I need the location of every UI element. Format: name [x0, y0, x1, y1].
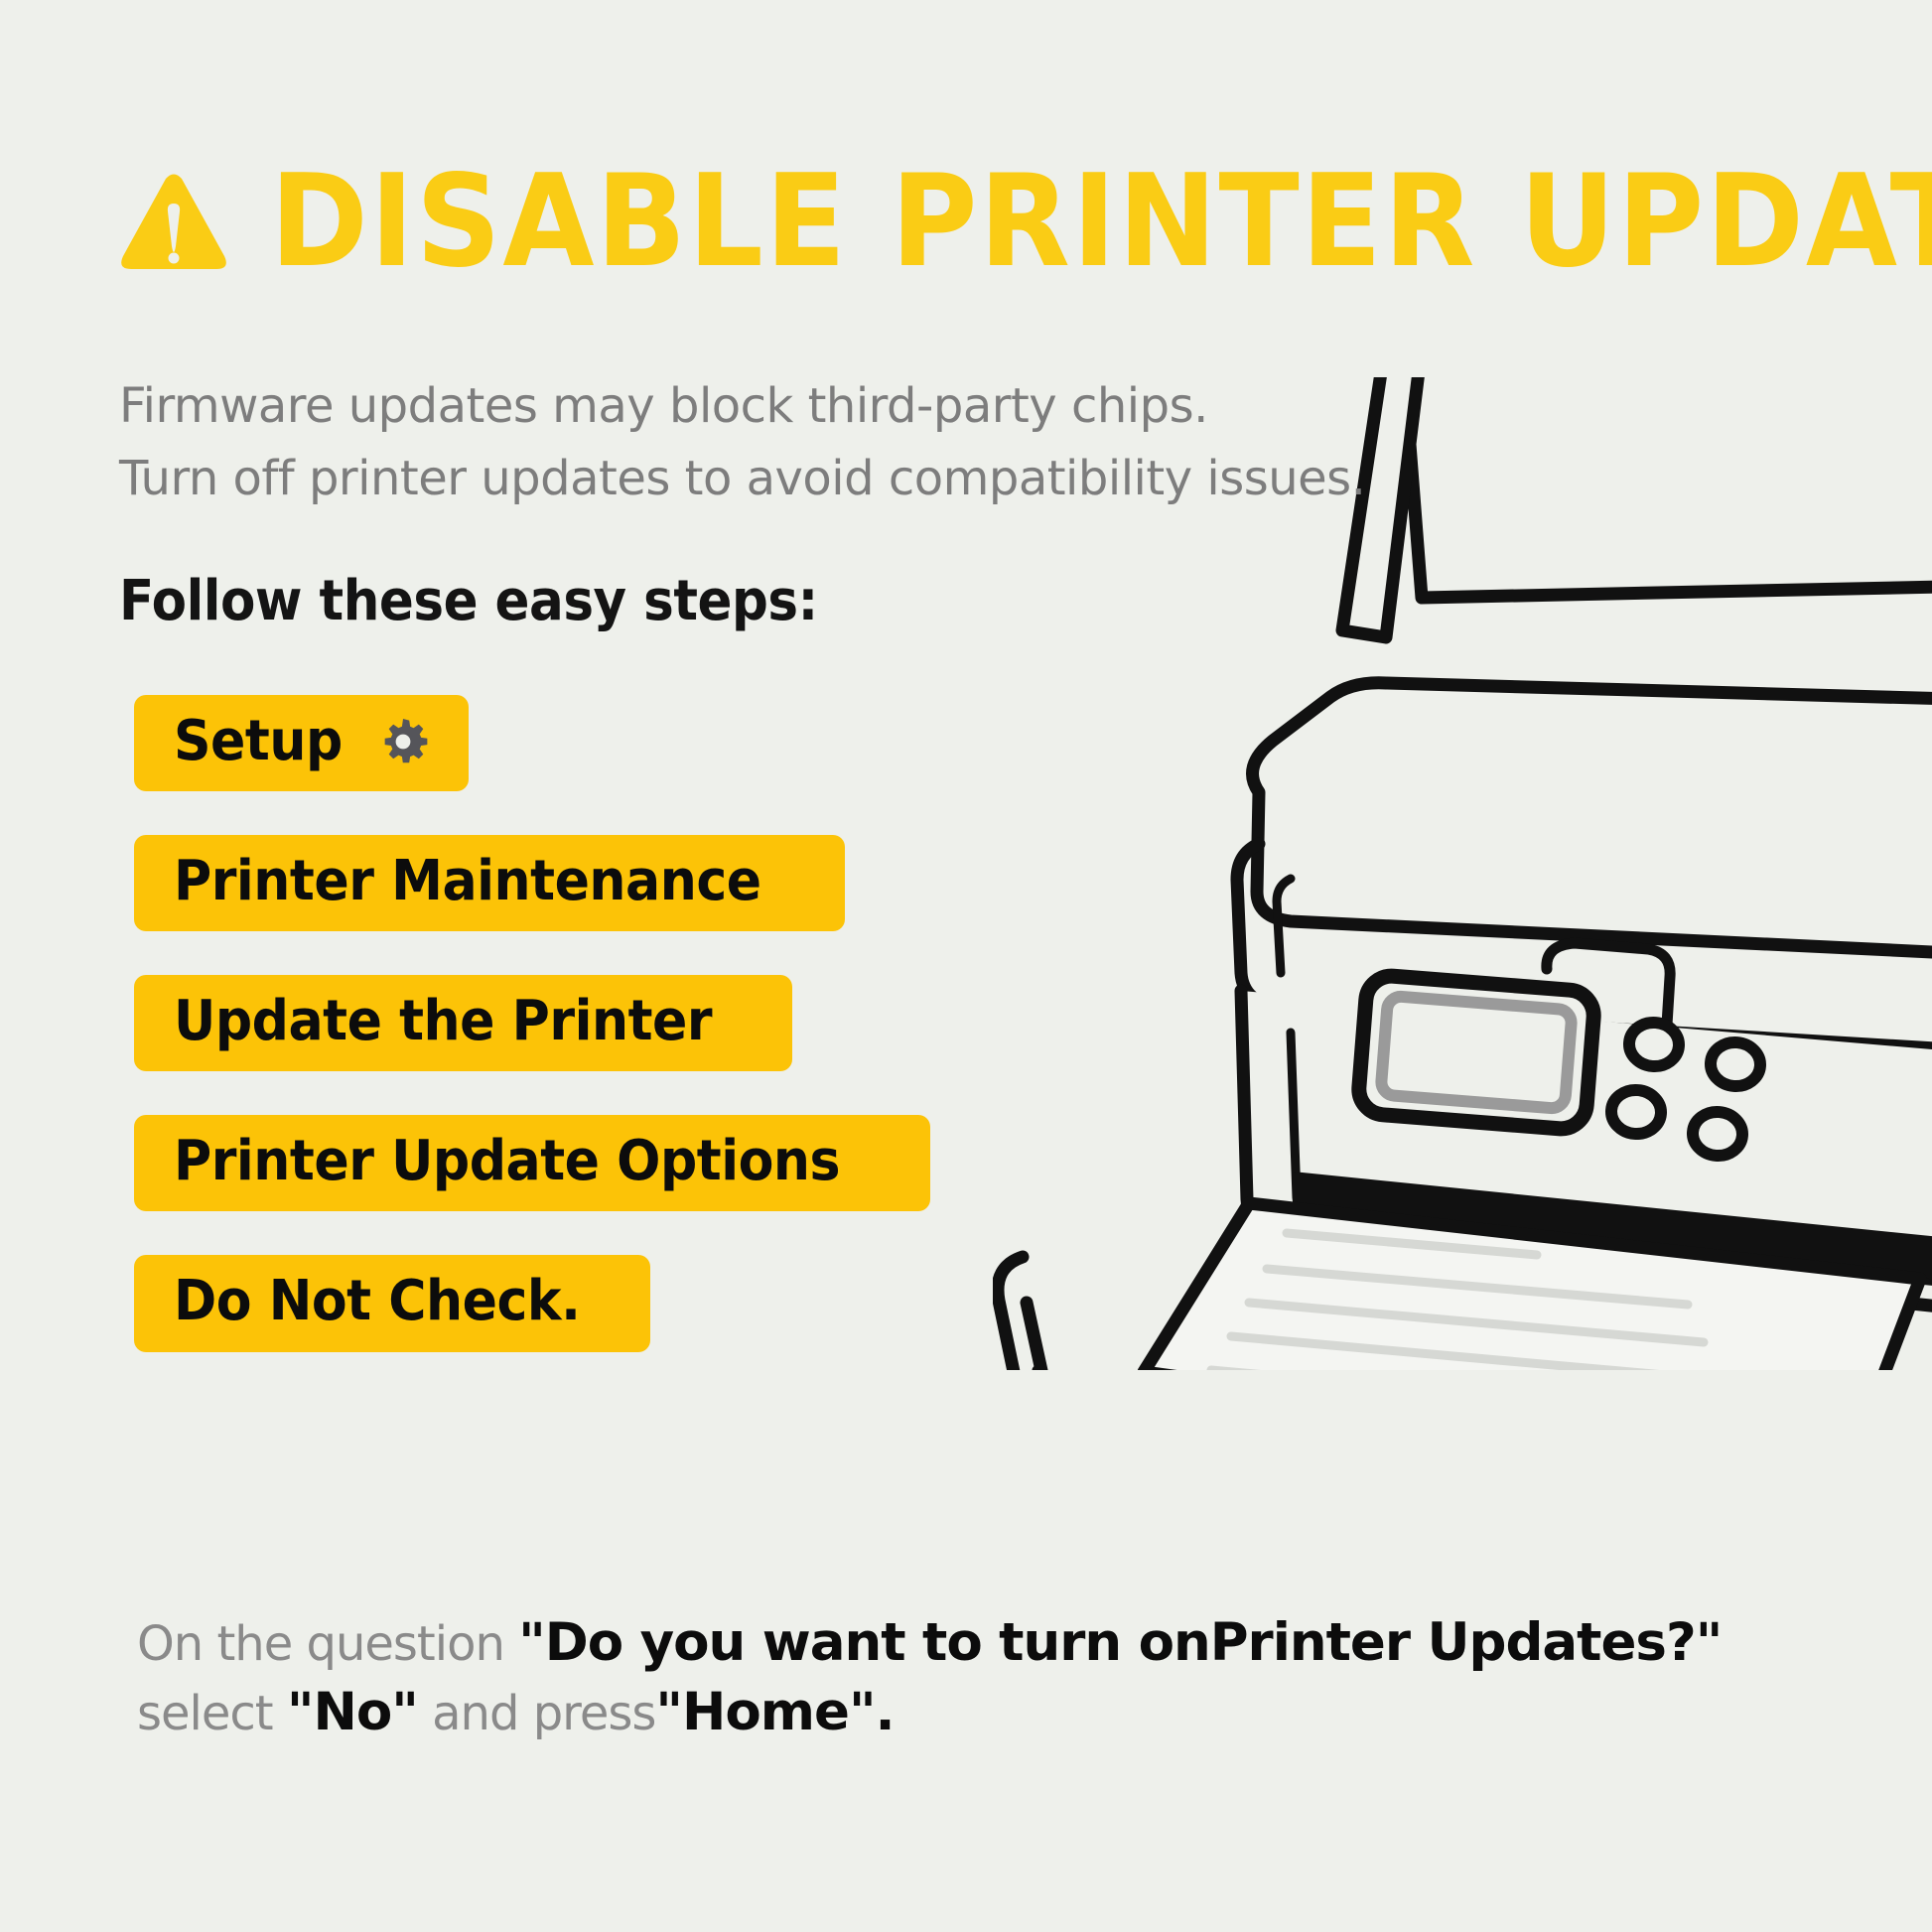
- footer-line-2: select "No" and press"Home".: [137, 1678, 1825, 1747]
- button-circle-1: [1627, 1021, 1680, 1068]
- footer-answer-no: "No": [287, 1682, 418, 1742]
- printer-body-front-inner: [1291, 1033, 1932, 1303]
- header: DISABLE PRINTER UPDATES: [119, 159, 1906, 286]
- step-label: Setup: [174, 713, 343, 769]
- warning-triangle-icon: [119, 171, 228, 274]
- footer-line-2-prefix: select: [137, 1686, 287, 1741]
- step-label: Printer Maintenance: [174, 853, 761, 909]
- step-chip-do-not-check[interactable]: Do Not Check.: [134, 1255, 650, 1351]
- footer-line-1-prefix: On the question: [137, 1616, 518, 1672]
- step-label: Update the Printer: [174, 993, 712, 1049]
- printer-illustration: [993, 377, 1932, 1370]
- printed-sheet-text-lines: [1211, 1233, 1704, 1370]
- lcd-display: [1357, 974, 1595, 1131]
- printed-sheet: [1144, 1203, 1920, 1370]
- footer-line-2-middle: and press: [418, 1686, 656, 1741]
- steps-list: Setup Printer Maintenance Update the Pri…: [134, 695, 930, 1352]
- scanner-lid-top: [1253, 683, 1932, 963]
- button-circle-2: [1709, 1040, 1761, 1088]
- footer-answer-home: "Home".: [655, 1682, 894, 1742]
- footer-question-quote: "Do you want to turn onPrinter Updates?": [518, 1612, 1722, 1673]
- lid-grip-notch: [1547, 943, 1670, 1040]
- step-label: Do Not Check.: [174, 1273, 580, 1329]
- footer-note: On the question "Do you want to turn onP…: [137, 1608, 1825, 1747]
- poster-canvas: DISABLE PRINTER UPDATES Firmware updates…: [0, 0, 1932, 1932]
- output-tray-left-rail: [998, 1257, 1054, 1370]
- paper-feed-sheet: [1404, 377, 1932, 598]
- button-circle-4: [1691, 1110, 1743, 1158]
- scanner-lid-lip: [1237, 844, 1932, 1062]
- step-chip-update-the-printer[interactable]: Update the Printer: [134, 975, 792, 1071]
- output-slot: [1293, 1172, 1932, 1287]
- footer-line-1: On the question "Do you want to turn onP…: [137, 1608, 1825, 1678]
- subtitle-line-2: Turn off printer updates to avoid compat…: [119, 450, 1410, 508]
- step-chip-printer-maintenance[interactable]: Printer Maintenance: [134, 835, 845, 931]
- output-tray-body: [1027, 1303, 1922, 1370]
- step-label: Printer Update Options: [174, 1133, 840, 1189]
- page-title: DISABLE PRINTER UPDATES: [270, 159, 1932, 286]
- subtitle-line-1: Firmware updates may block third-party c…: [119, 377, 1410, 436]
- steps-heading: Follow these easy steps:: [119, 574, 818, 629]
- button-circle-3: [1609, 1088, 1662, 1136]
- subtitle-block: Firmware updates may block third-party c…: [119, 377, 1410, 521]
- printer-body-front: [1241, 991, 1932, 1330]
- gear-icon: [377, 716, 429, 767]
- scanner-lid-lip-inner: [1277, 879, 1291, 973]
- step-chip-setup[interactable]: Setup: [134, 695, 469, 791]
- step-chip-printer-update-options[interactable]: Printer Update Options: [134, 1115, 930, 1211]
